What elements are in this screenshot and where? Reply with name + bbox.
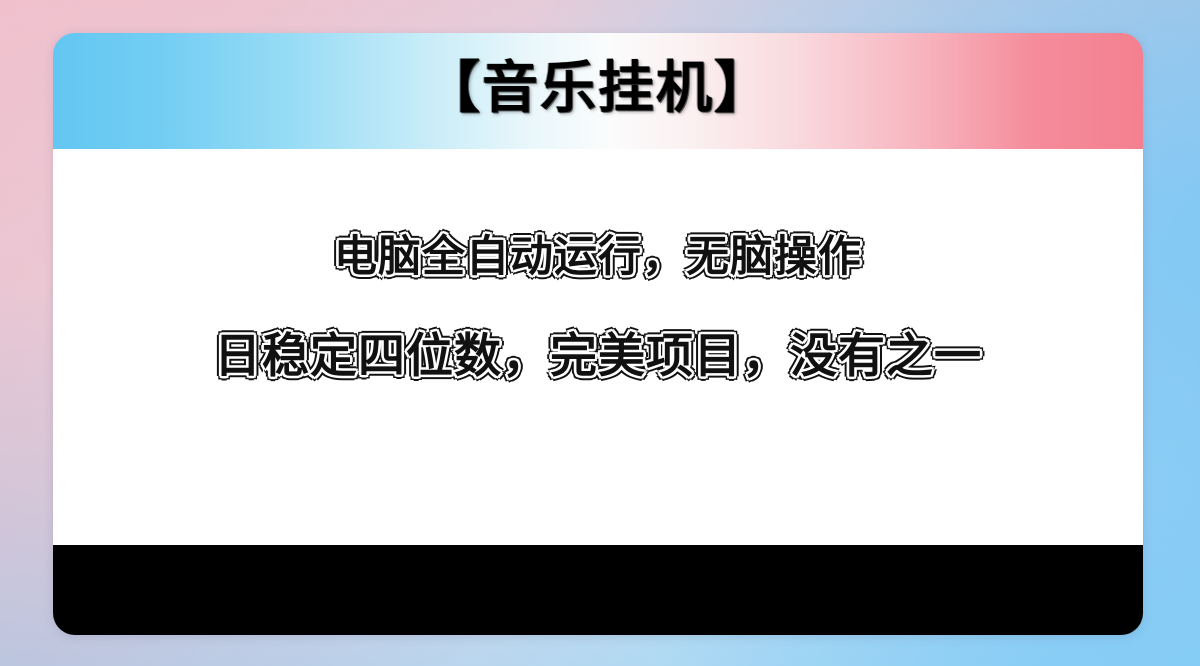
tagline-line-1: 电脑全自动运行，无脑操作 bbox=[334, 235, 862, 280]
card-footer-bar bbox=[53, 545, 1143, 635]
poster-canvas: 【音乐挂机】 电脑全自动运行，无脑操作 日稳定四位数，完美项目，没有之一 bbox=[0, 0, 1200, 666]
content-card: 【音乐挂机】 电脑全自动运行，无脑操作 日稳定四位数，完美项目，没有之一 bbox=[53, 33, 1143, 635]
poster-title: 【音乐挂机】 bbox=[424, 61, 772, 117]
tagline-line-2: 日稳定四位数，完美项目，没有之一 bbox=[214, 332, 982, 381]
card-header-band: 【音乐挂机】 bbox=[53, 33, 1143, 149]
card-body: 电脑全自动运行，无脑操作 日稳定四位数，完美项目，没有之一 bbox=[53, 149, 1143, 545]
